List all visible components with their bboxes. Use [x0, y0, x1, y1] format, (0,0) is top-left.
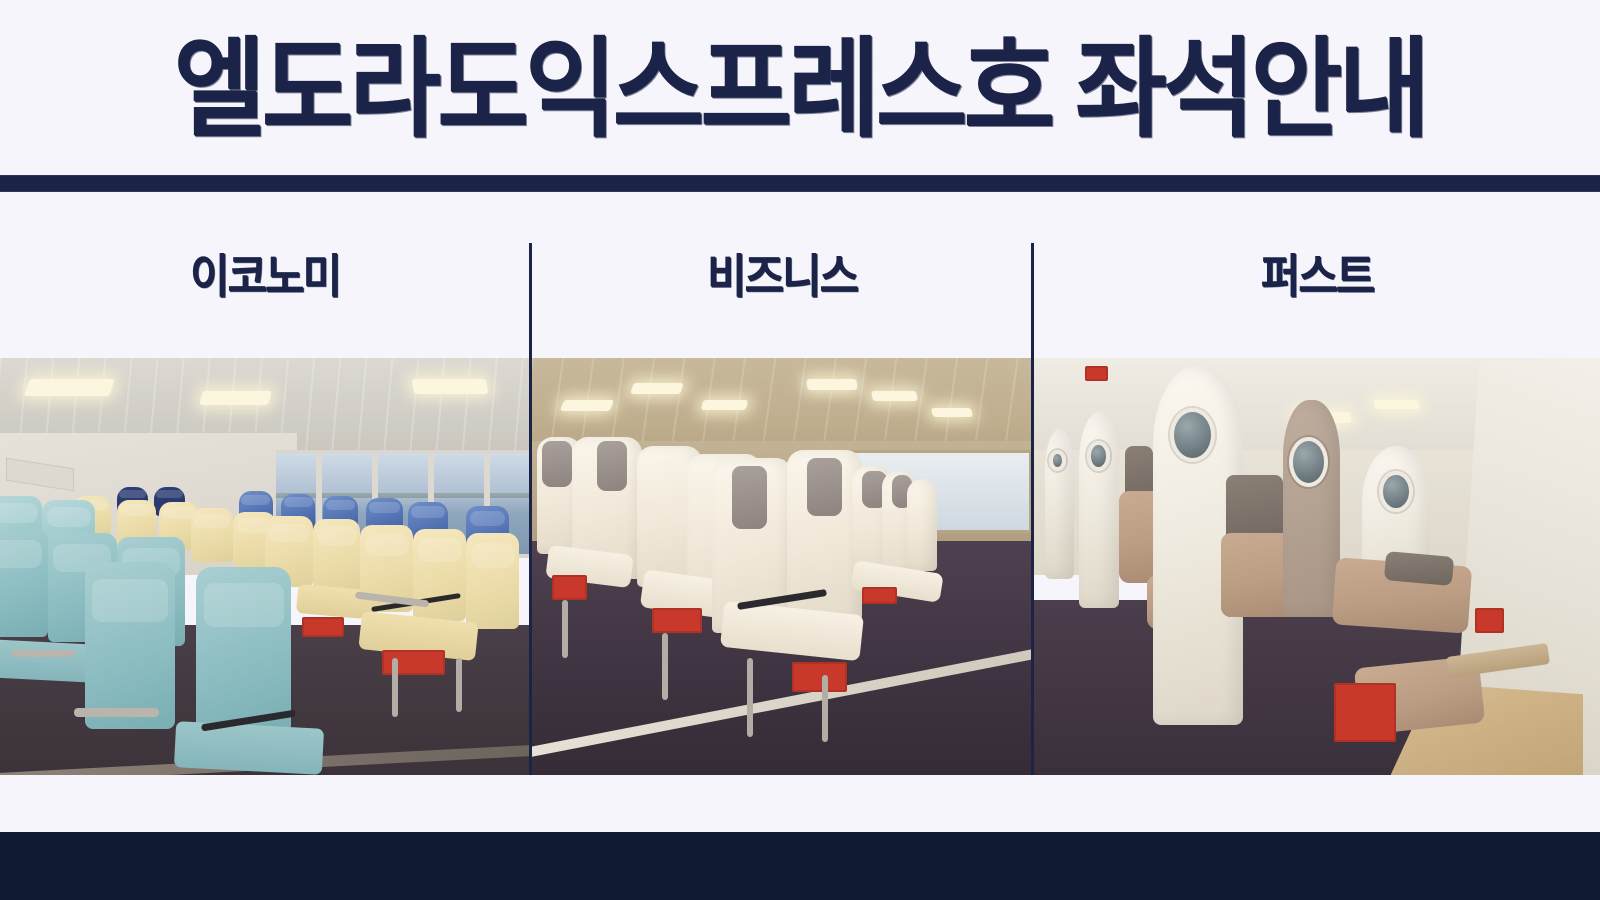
column-label-first: 퍼스트	[1054, 250, 1580, 302]
photo-business	[532, 358, 1032, 775]
ceiling-lamp-icon	[701, 400, 748, 410]
column-business[interactable]: 비즈니스	[532, 192, 1032, 775]
seat	[466, 533, 519, 629]
lifejacket-box	[792, 662, 847, 691]
seat-leg	[822, 675, 828, 742]
armrest	[1384, 551, 1454, 586]
photo-economy	[0, 358, 530, 775]
seat	[191, 508, 233, 562]
seat	[196, 567, 291, 734]
seat-leg	[456, 658, 462, 712]
class-columns-band: 이코노미	[0, 192, 1600, 775]
seat-cushion	[174, 721, 325, 775]
seat	[85, 562, 175, 729]
seat-leg	[662, 633, 668, 700]
lifejacket-box	[1475, 608, 1503, 633]
column-label-business: 비즈니스	[550, 250, 1015, 302]
ceiling-lamp-icon	[560, 400, 614, 411]
ceiling-lamp-icon	[200, 391, 272, 405]
lifejacket-box	[1334, 683, 1396, 741]
column-economy[interactable]: 이코노미	[0, 192, 530, 775]
ceiling-lamp-icon	[871, 391, 918, 401]
lifejacket-box	[382, 650, 446, 675]
lifejacket-box	[862, 587, 897, 604]
headrest	[732, 466, 767, 529]
headrest	[597, 441, 627, 491]
headrest	[807, 458, 842, 516]
footer-bar	[0, 832, 1600, 900]
porthole-window-icon	[1087, 441, 1110, 470]
ceiling-lamp-icon	[630, 383, 684, 394]
column-first[interactable]: 퍼스트	[1034, 192, 1600, 775]
horizon-line	[276, 493, 530, 498]
seat-leg	[747, 658, 753, 737]
wall-panel	[6, 457, 74, 490]
ceiling-lamp-icon	[806, 379, 857, 390]
porthole-window-icon	[1049, 450, 1066, 471]
seat	[0, 529, 48, 637]
headrest	[542, 441, 572, 487]
ceiling-lamp-icon	[1372, 400, 1420, 409]
seat-pod-divider	[1283, 400, 1340, 617]
armrest	[11, 650, 75, 657]
seat-leg	[392, 658, 398, 716]
seat	[313, 519, 361, 594]
armrest	[74, 708, 159, 717]
lifejacket-box	[652, 608, 702, 633]
porthole-window-icon	[1170, 408, 1215, 462]
seat	[413, 529, 466, 621]
header: 엘도라도익스프레스호 좌석안내	[0, 0, 1600, 175]
page-title: 엘도라도익스프레스호 좌석안내	[64, 34, 1536, 144]
exit-sign-icon	[1085, 366, 1108, 381]
seat-leg	[562, 600, 568, 658]
lifejacket-box	[302, 617, 344, 638]
seat-cushion	[296, 584, 367, 619]
ceiling-lamp-icon	[412, 379, 489, 394]
seat-cushion	[0, 639, 96, 682]
header-divider-rule	[0, 175, 1600, 192]
slide-root: 엘도라도익스프레스호 좌석안내 이코노미	[0, 0, 1600, 900]
lifejacket-box	[552, 575, 587, 600]
ceiling-lamp-icon	[24, 379, 114, 396]
ceiling-lamp-icon	[931, 408, 973, 417]
column-label-economy: 이코노미	[19, 250, 512, 302]
photo-first	[1034, 358, 1600, 775]
seat	[907, 479, 937, 571]
